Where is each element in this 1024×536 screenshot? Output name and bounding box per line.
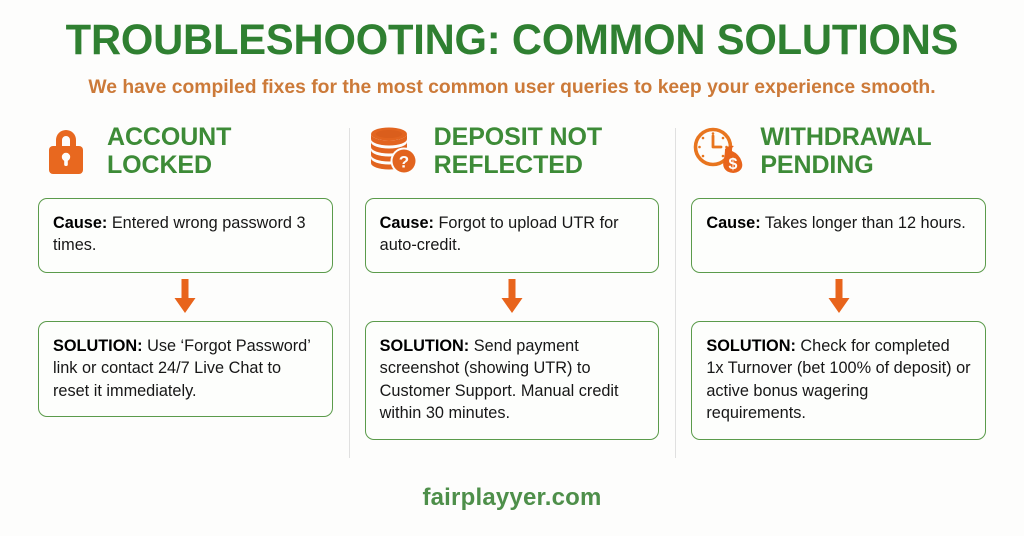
cause-text: Takes longer than 12 hours. (761, 214, 966, 232)
down-arrow-icon (365, 273, 660, 321)
solution-card: SOLUTION: Use ‘Forgot Password’ link or … (38, 321, 333, 417)
solution-card: SOLUTION: Check for completed 1x Turnove… (691, 321, 986, 440)
svg-text:$: $ (729, 156, 738, 173)
down-arrow-icon (691, 273, 986, 321)
clock-money-bag-icon: $ (691, 120, 747, 180)
column-title: DEPOSIT NOT REFLECTED (434, 120, 660, 180)
solution-label: SOLUTION: (53, 337, 143, 355)
footer: fairplayyer.com (0, 484, 1024, 512)
page-title: TROUBLESHOOTING: COMMON SOLUTIONS (15, 18, 1008, 63)
cause-card: Cause: Entered wrong password 3 times. (38, 198, 333, 273)
column-account-locked: ACCOUNT LOCKED Cause: Entered wrong pass… (22, 120, 349, 472)
cause-label: Cause: (706, 214, 760, 232)
coins-question-icon: ? (365, 120, 421, 180)
padlock-icon (38, 120, 94, 180)
column-header: ? DEPOSIT NOT REFLECTED (365, 120, 660, 198)
cause-label: Cause: (380, 214, 434, 232)
column-title: ACCOUNT LOCKED (107, 120, 333, 180)
cause-card: Cause: Takes longer than 12 hours. (691, 198, 986, 273)
solution-card: SOLUTION: Send payment screenshot (showi… (365, 321, 660, 440)
cause-label: Cause: (53, 214, 107, 232)
svg-text:?: ? (398, 152, 408, 171)
column-withdrawal-pending: $ WITHDRAWAL PENDING Cause: Takes longer… (675, 120, 1002, 472)
column-header: ACCOUNT LOCKED (38, 120, 333, 198)
column-header: $ WITHDRAWAL PENDING (691, 120, 986, 198)
page-subtitle: We have compiled fixes for the most comm… (5, 77, 1019, 98)
solution-label: SOLUTION: (706, 337, 796, 355)
down-arrow-icon (38, 273, 333, 321)
column-deposit-not-reflected: ? DEPOSIT NOT REFLECTED Cause: Forgot to… (349, 120, 676, 472)
site-url[interactable]: fairplayyer.com (422, 484, 601, 511)
columns-container: ACCOUNT LOCKED Cause: Entered wrong pass… (0, 120, 1024, 472)
solution-label: SOLUTION: (380, 337, 470, 355)
cause-card: Cause: Forgot to upload UTR for auto-cre… (365, 198, 660, 273)
column-title: WITHDRAWAL PENDING (760, 120, 986, 180)
header: TROUBLESHOOTING: COMMON SOLUTIONS We hav… (0, 0, 1024, 99)
infographic-page: TROUBLESHOOTING: COMMON SOLUTIONS We hav… (0, 0, 1024, 536)
